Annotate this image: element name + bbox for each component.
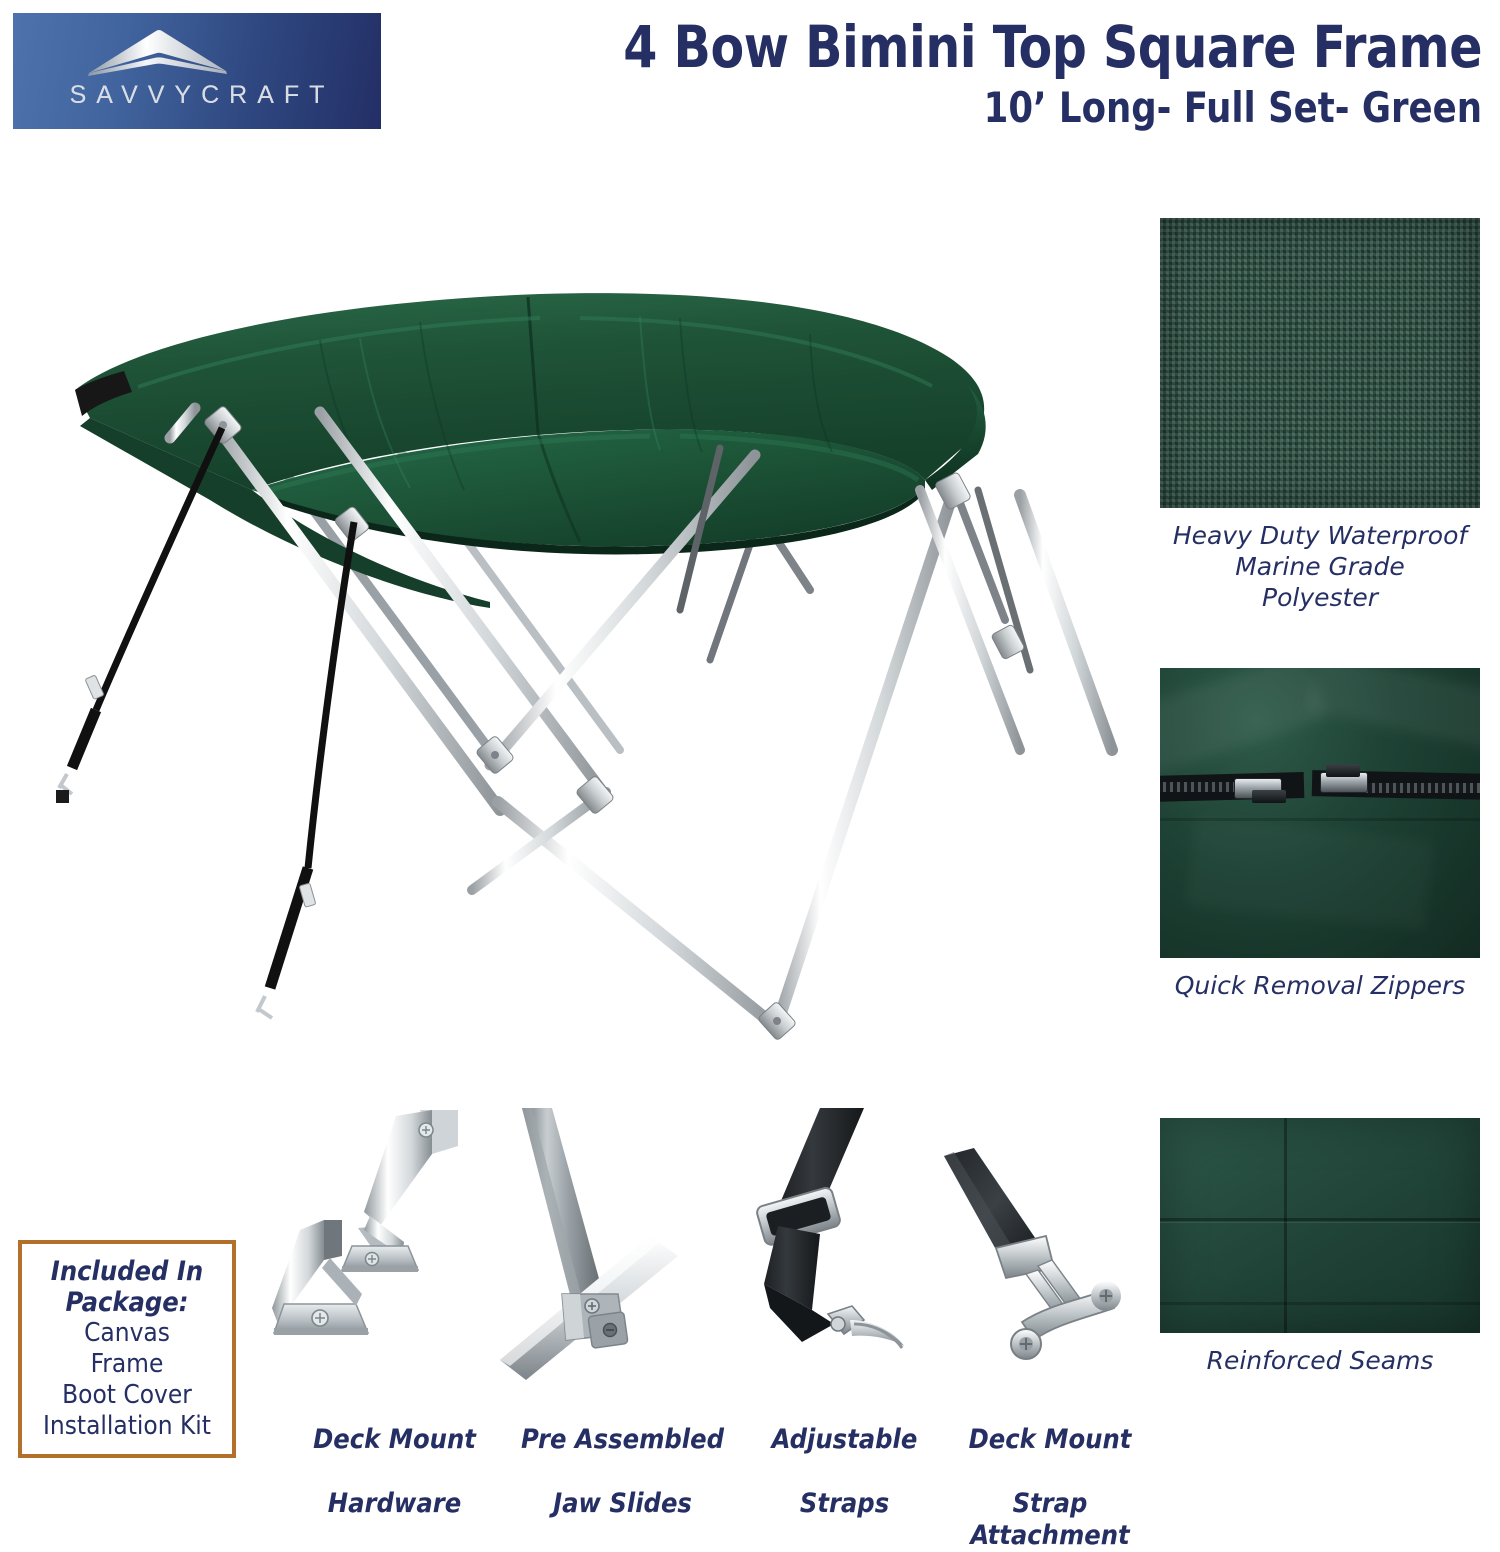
included-item: Installation Kit — [43, 1411, 211, 1442]
included-item: Boot Cover — [62, 1380, 192, 1411]
page-title: 4 Bow Bimini Top Square Frame — [457, 16, 1482, 78]
quick-removal-zipper-photo — [1160, 668, 1480, 958]
title-block: 4 Bow Bimini Top Square Frame 10’ Long- … — [392, 16, 1482, 132]
part-jaw-slides-caption: Pre Assembled Jaw Slides — [500, 1392, 745, 1520]
feature-fabric-caption: Heavy Duty Waterproof Marine Grade Polye… — [1160, 520, 1480, 613]
feature-seams-caption: Reinforced Seams — [1160, 1345, 1480, 1376]
included-item: Frame — [91, 1349, 164, 1380]
part-adjustable-straps-caption: Adjustable Straps — [742, 1392, 947, 1520]
page-subtitle: 10’ Long- Full Set- Green — [457, 84, 1482, 132]
strap-hook-tip — [56, 790, 69, 803]
included-in-package-box: Included In Package: Canvas Frame Boot C… — [18, 1240, 236, 1458]
pre-assembled-jaw-slide — [500, 1108, 745, 1388]
feature-zipper-caption: Quick Removal Zippers — [1160, 970, 1480, 1001]
fabric-weave-swatch — [1160, 218, 1480, 508]
brand-logo: SAVVYCRAFT — [13, 13, 381, 129]
adjustable-strap-with-buckle — [742, 1108, 947, 1388]
reinforced-seams-photo — [1160, 1118, 1480, 1333]
feature-zipper: Quick Removal Zippers — [1160, 668, 1480, 1001]
boat-arc-icon — [13, 19, 381, 81]
part-deck-mount-hardware: Deck Mount Hardware — [272, 1108, 517, 1520]
feature-seams: Reinforced Seams — [1160, 1118, 1480, 1376]
strap-deck-plate-fitting — [930, 1108, 1170, 1388]
part-deck-mount-hardware-caption: Deck Mount Hardware — [272, 1392, 517, 1520]
part-adjustable-straps: Adjustable Straps — [742, 1108, 947, 1520]
hero-product-image — [20, 190, 1120, 1070]
logo-wordmark: SAVVYCRAFT — [13, 81, 381, 110]
feature-fabric: Heavy Duty Waterproof Marine Grade Polye… — [1160, 218, 1480, 613]
strap-snap-hooks — [59, 774, 272, 1018]
bimini-top-illustration — [20, 190, 1120, 1070]
strap-buckles — [85, 675, 316, 907]
part-deck-mount-strap-attachment: Deck Mount Strap Attachment — [930, 1108, 1170, 1552]
included-item: Canvas — [84, 1318, 170, 1349]
part-strap-attachment-caption: Deck Mount Strap Attachment — [930, 1392, 1170, 1552]
part-jaw-slides: Pre Assembled Jaw Slides — [500, 1108, 745, 1520]
deck-mount-bracket-pair — [272, 1108, 517, 1388]
header: SAVVYCRAFT 4 Bow Bimini Top Square Frame… — [0, 0, 1500, 172]
included-heading: Included In Package: — [51, 1256, 203, 1318]
